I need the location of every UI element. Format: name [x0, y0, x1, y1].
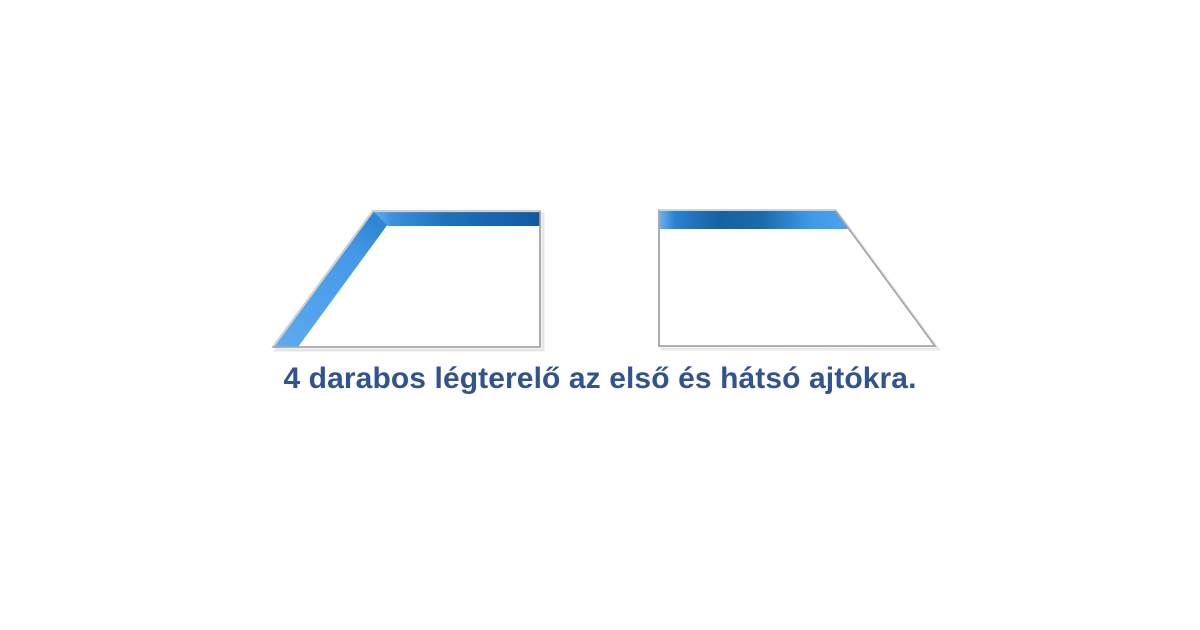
rear-door-deflector-top-band	[659, 210, 849, 229]
caption-text: 4 darabos légterelő az első és hátsó ajt…	[0, 362, 1200, 396]
rear-door-deflector-body	[659, 210, 935, 346]
rear-door-deflector	[659, 210, 938, 349]
wind-deflector-diagram	[0, 0, 1200, 630]
front-door-deflector-top-band	[373, 211, 540, 226]
front-door-deflector-body	[273, 211, 540, 347]
front-door-deflector	[273, 211, 543, 350]
illustration-canvas: 4 darabos légterelő az első és hátsó ajt…	[0, 0, 1200, 630]
